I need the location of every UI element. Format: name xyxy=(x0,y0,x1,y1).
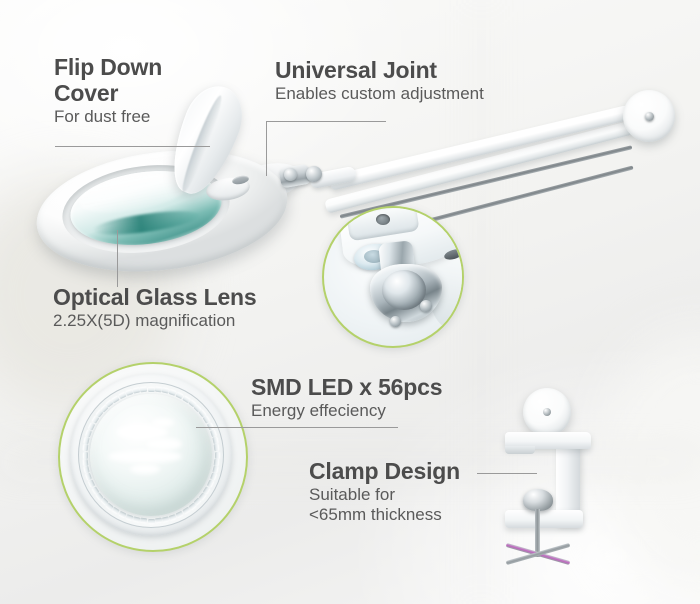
callout-optical-glass-lens-subtitle: 2.25X(5D) magnification xyxy=(53,311,256,331)
callout-smd-led-title: SMD LED x 56pcs xyxy=(251,375,442,401)
clamp-top-lip xyxy=(505,446,535,454)
led-diode xyxy=(83,452,88,459)
callout-flip-down-cover-subtitle: For dust free xyxy=(54,107,162,127)
callout-clamp-design-title: Clamp Design xyxy=(309,459,460,485)
led-ring-zoom-inset xyxy=(58,362,248,552)
led-zoom-inner-shadow xyxy=(90,394,212,516)
led-diode xyxy=(125,514,133,521)
universal-joint-zoom-inset xyxy=(322,206,464,348)
callout-clamp-design-subtitle-line1: Suitable for xyxy=(309,485,460,505)
led-diode xyxy=(148,387,155,392)
uj-zoom-screw-a xyxy=(420,300,432,312)
elbow-pivot-screw xyxy=(645,112,654,121)
clamp-bottom-jaw xyxy=(505,510,583,528)
universal-joint-knob-right xyxy=(306,166,322,182)
universal-joint-knob-left xyxy=(284,168,297,181)
led-diode xyxy=(215,452,220,459)
led-diode xyxy=(155,518,163,524)
clamp-screw-rod xyxy=(535,509,540,557)
callout-flip-down-cover-title-line1: Flip Down xyxy=(54,55,162,81)
callout-flip-down-cover-title-line2: Cover xyxy=(54,81,162,107)
callout-universal-joint: Universal Joint Enables custom adjustmen… xyxy=(275,58,484,104)
led-diode xyxy=(162,516,170,522)
callout-clamp-design-subtitle-line2: <65mm thickness xyxy=(309,505,460,525)
callout-smd-led-subtitle: Energy effeciency xyxy=(251,401,442,421)
uj-zoom-screw-b xyxy=(390,316,401,327)
callout-optical-glass-lens-title: Optical Glass Lens xyxy=(53,285,256,311)
leader-line-clamp-design xyxy=(477,473,537,474)
led-diode xyxy=(83,444,89,452)
lower-pivot-screw xyxy=(543,408,551,416)
callout-universal-joint-title: Universal Joint xyxy=(275,58,484,84)
callout-clamp-design: Clamp Design Suitable for <65mm thicknes… xyxy=(309,459,460,525)
callout-universal-joint-subtitle: Enables custom adjustment xyxy=(275,84,484,104)
led-diode xyxy=(83,459,89,467)
led-diode xyxy=(83,436,89,444)
leader-line-universal-joint-horizontal xyxy=(266,121,386,122)
led-diode xyxy=(140,387,148,393)
led-diode xyxy=(132,516,140,522)
clamp-knob xyxy=(523,489,553,511)
led-diode xyxy=(148,519,155,524)
product-infographic: Flip Down Cover For dust free Universal … xyxy=(0,0,700,604)
led-diode xyxy=(91,486,99,495)
callout-flip-down-cover: Flip Down Cover For dust free xyxy=(54,55,162,127)
callout-optical-glass-lens: Optical Glass Lens 2.25X(5D) magnificati… xyxy=(53,285,256,331)
uj-zoom-mount-hole xyxy=(376,214,390,225)
callout-smd-led: SMD LED x 56pcs Energy effeciency xyxy=(251,375,442,421)
led-diode xyxy=(140,518,148,524)
background-blur-right xyxy=(600,330,700,590)
led-diode xyxy=(214,444,220,452)
led-diode xyxy=(83,466,89,474)
